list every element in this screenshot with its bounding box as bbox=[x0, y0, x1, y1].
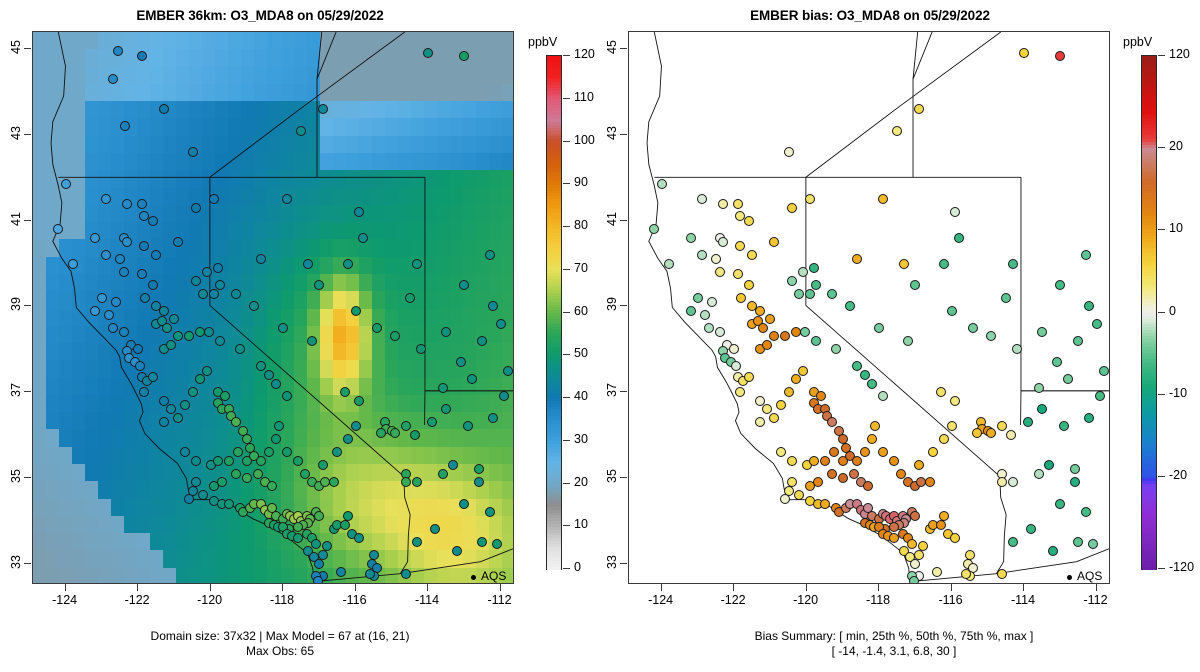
observation-point[interactable] bbox=[878, 194, 888, 204]
observation-point[interactable] bbox=[101, 194, 111, 204]
observation-point[interactable] bbox=[878, 447, 888, 457]
y-tick bbox=[24, 220, 31, 221]
x-tick bbox=[355, 584, 356, 591]
observation-point[interactable] bbox=[947, 421, 957, 431]
observation-point[interactable] bbox=[1099, 366, 1109, 376]
y-tick-label: 45 bbox=[605, 30, 619, 64]
observation-point[interactable] bbox=[947, 306, 957, 316]
colorbar-tick bbox=[563, 312, 570, 313]
observation-point[interactable] bbox=[204, 327, 214, 337]
observation-point[interactable] bbox=[271, 379, 281, 389]
observation-point[interactable] bbox=[90, 306, 100, 316]
colorbar-tick-label: 20 bbox=[1169, 139, 1183, 153]
x-tick bbox=[1096, 584, 1097, 591]
observation-point[interactable] bbox=[809, 263, 819, 273]
observation-point[interactable] bbox=[233, 447, 243, 457]
colorbar-tick bbox=[1158, 147, 1165, 148]
observation-point[interactable] bbox=[159, 417, 169, 427]
observation-point[interactable] bbox=[139, 241, 149, 251]
colorbar-tick bbox=[563, 98, 570, 99]
observation-point[interactable] bbox=[892, 126, 902, 136]
observation-point[interactable] bbox=[1012, 344, 1022, 354]
colorbar-tick bbox=[1158, 476, 1165, 477]
observation-point[interactable] bbox=[202, 366, 212, 376]
observation-point[interactable] bbox=[108, 323, 118, 333]
x-tick bbox=[661, 584, 662, 591]
observation-point[interactable] bbox=[148, 216, 158, 226]
observation-point[interactable] bbox=[1055, 499, 1065, 509]
aqs-legend-label-bias: AQS bbox=[1077, 569, 1102, 583]
y-tick-label: 35 bbox=[9, 459, 23, 493]
observation-point[interactable] bbox=[278, 323, 288, 333]
observation-point[interactable] bbox=[162, 323, 172, 333]
observation-point[interactable] bbox=[188, 147, 198, 157]
y-tick bbox=[620, 563, 627, 564]
observation-point[interactable] bbox=[733, 269, 743, 279]
observation-point[interactable] bbox=[758, 323, 768, 333]
colorbar-tick-label: 10 bbox=[574, 517, 588, 531]
observation-point[interactable] bbox=[787, 203, 797, 213]
panel-title-model: EMBER 36km: O3_MDA8 on 05/29/2022 bbox=[0, 8, 520, 23]
y-tick-label: 33 bbox=[9, 545, 23, 579]
observation-point[interactable] bbox=[427, 417, 437, 427]
observation-point[interactable] bbox=[282, 194, 292, 204]
observation-point[interactable] bbox=[148, 372, 158, 382]
observation-point[interactable] bbox=[209, 289, 219, 299]
observation-point[interactable] bbox=[829, 447, 839, 457]
observation-point[interactable] bbox=[264, 370, 274, 380]
observation-point[interactable] bbox=[235, 344, 245, 354]
observation-point[interactable] bbox=[811, 280, 821, 290]
observation-point[interactable] bbox=[744, 372, 754, 382]
colorbar-tick-label: 40 bbox=[574, 389, 588, 403]
observation-point[interactable] bbox=[340, 520, 350, 530]
x-tick bbox=[806, 584, 807, 591]
colorbar-tick bbox=[1158, 55, 1165, 56]
y-tick bbox=[24, 391, 31, 392]
x-tick-label: -112 bbox=[477, 593, 523, 607]
observation-point[interactable] bbox=[459, 51, 469, 61]
observation-point[interactable] bbox=[867, 434, 877, 444]
caption-bias-line1: Bias Summary: [ min, 25th %, 50th %, 75t… bbox=[614, 629, 1174, 644]
y-tick-label: 41 bbox=[9, 202, 23, 236]
colorbar-tick bbox=[563, 269, 570, 270]
x-tick bbox=[951, 584, 952, 591]
observation-point[interactable] bbox=[97, 293, 107, 303]
observation-point[interactable] bbox=[755, 417, 765, 427]
boundary-line bbox=[913, 32, 932, 79]
observation-point[interactable] bbox=[762, 340, 772, 350]
observation-point[interactable] bbox=[950, 396, 960, 406]
map-bias[interactable] bbox=[628, 31, 1110, 584]
x-tick bbox=[65, 584, 66, 591]
observation-point[interactable] bbox=[343, 259, 353, 269]
y-tick-label: 37 bbox=[605, 373, 619, 407]
observation-point[interactable] bbox=[139, 211, 149, 221]
map-model[interactable] bbox=[32, 31, 514, 584]
observation-point[interactable] bbox=[827, 417, 837, 427]
observation-point[interactable] bbox=[735, 387, 745, 397]
colorbar-tick bbox=[1158, 229, 1165, 230]
observation-point[interactable] bbox=[838, 473, 848, 483]
observation-point[interactable] bbox=[271, 434, 281, 444]
y-tick-label: 39 bbox=[605, 287, 619, 321]
observation-point[interactable] bbox=[459, 499, 469, 509]
colorbar-tick bbox=[1158, 394, 1165, 395]
observation-point[interactable] bbox=[485, 250, 495, 260]
aqs-legend-dot-model bbox=[471, 575, 476, 580]
observation-point[interactable] bbox=[405, 293, 415, 303]
observation-point[interactable] bbox=[318, 550, 328, 560]
observation-point[interactable] bbox=[307, 336, 317, 346]
colorbar-tick bbox=[563, 483, 570, 484]
observation-point[interactable] bbox=[166, 340, 176, 350]
observation-point[interactable] bbox=[718, 199, 728, 209]
observation-point[interactable] bbox=[438, 469, 448, 479]
observation-point[interactable] bbox=[784, 147, 794, 157]
colorbar-tick-label: 90 bbox=[574, 175, 588, 189]
observation-point[interactable] bbox=[1055, 51, 1065, 61]
x-tick-label: -118 bbox=[259, 593, 305, 607]
observation-point[interactable] bbox=[61, 179, 71, 189]
observation-point[interactable] bbox=[416, 344, 426, 354]
observation-point[interactable] bbox=[1048, 546, 1058, 556]
observation-point[interactable] bbox=[784, 387, 794, 397]
observation-point[interactable] bbox=[139, 387, 149, 397]
x-tick-label: -112 bbox=[1073, 593, 1119, 607]
aqs-legend-dot-bias bbox=[1067, 575, 1072, 580]
observation-point[interactable] bbox=[909, 576, 919, 584]
observation-point[interactable] bbox=[791, 374, 801, 384]
x-tick-label: -122 bbox=[710, 593, 756, 607]
y-tick-label: 43 bbox=[605, 116, 619, 150]
x-tick bbox=[137, 584, 138, 591]
observation-point[interactable] bbox=[242, 473, 252, 483]
observation-point[interactable] bbox=[68, 259, 78, 269]
observation-point[interactable] bbox=[137, 269, 147, 279]
observation-point[interactable] bbox=[657, 179, 667, 189]
colorbar-gradient-model bbox=[546, 55, 562, 570]
colorbar-tick bbox=[563, 525, 570, 526]
observation-point[interactable] bbox=[231, 289, 241, 299]
observation-point[interactable] bbox=[159, 104, 169, 114]
x-tick-label: -124 bbox=[42, 593, 88, 607]
y-tick bbox=[24, 477, 31, 478]
observation-point[interactable] bbox=[874, 323, 884, 333]
observation-point[interactable] bbox=[137, 199, 147, 209]
x-tick-label: -120 bbox=[783, 593, 829, 607]
boundary-line bbox=[317, 32, 336, 79]
observation-point[interactable] bbox=[733, 199, 743, 209]
colorbar-tick bbox=[563, 226, 570, 227]
colorbar-gradient-bias bbox=[1141, 55, 1157, 570]
observation-point[interactable] bbox=[700, 310, 710, 320]
colorbar-tick bbox=[1158, 312, 1165, 313]
colorbar-tick-label: 120 bbox=[574, 47, 595, 61]
map-boundaries-bias bbox=[629, 32, 1109, 583]
observation-point[interactable] bbox=[224, 499, 234, 509]
x-tick bbox=[500, 584, 501, 591]
colorbar-tick bbox=[563, 55, 570, 56]
observation-point[interactable] bbox=[798, 366, 808, 376]
x-tick bbox=[210, 584, 211, 591]
colorbar-tick-label: -120 bbox=[1169, 560, 1194, 574]
y-tick bbox=[620, 220, 627, 221]
caption-model: Domain size: 37x32 | Max Model = 67 at (… bbox=[0, 629, 560, 659]
observation-point[interactable] bbox=[1052, 357, 1062, 367]
observation-point[interactable] bbox=[1063, 374, 1073, 384]
observation-point[interactable] bbox=[735, 211, 745, 221]
observation-point[interactable] bbox=[231, 417, 241, 427]
observation-point[interactable] bbox=[104, 310, 114, 320]
observation-point[interactable] bbox=[755, 306, 765, 316]
observation-point[interactable] bbox=[474, 477, 484, 487]
caption-model-line2: Max Obs: 65 bbox=[0, 644, 560, 659]
observation-point[interactable] bbox=[744, 280, 754, 290]
y-tick bbox=[24, 305, 31, 306]
observation-point[interactable] bbox=[686, 233, 696, 243]
observation-point[interactable] bbox=[213, 263, 223, 273]
y-tick bbox=[620, 391, 627, 392]
observation-point[interactable] bbox=[412, 259, 422, 269]
colorbar-tick bbox=[563, 141, 570, 142]
observation-point[interactable] bbox=[296, 126, 306, 136]
observation-point[interactable] bbox=[198, 289, 208, 299]
observation-point[interactable] bbox=[303, 259, 313, 269]
colorbar-tick bbox=[1158, 568, 1165, 569]
x-tick-label: -122 bbox=[114, 593, 160, 607]
map-boundaries-model bbox=[33, 32, 513, 583]
observation-point[interactable] bbox=[195, 374, 205, 384]
x-tick-label: -124 bbox=[638, 593, 684, 607]
colorbar-tick-label: 110 bbox=[574, 90, 594, 104]
observation-point[interactable] bbox=[899, 259, 909, 269]
observation-point[interactable] bbox=[213, 456, 223, 466]
y-tick-label: 35 bbox=[605, 459, 619, 493]
observation-point[interactable] bbox=[122, 199, 132, 209]
observation-point[interactable] bbox=[224, 456, 234, 466]
observation-point[interactable] bbox=[322, 541, 332, 551]
observation-point[interactable] bbox=[318, 460, 328, 470]
x-tick-label: -114 bbox=[1000, 593, 1046, 607]
observation-point[interactable] bbox=[787, 456, 797, 466]
observation-point[interactable] bbox=[805, 289, 815, 299]
observation-point[interactable] bbox=[503, 366, 513, 376]
caption-bias: Bias Summary: [ min, 25th %, 50th %, 75t… bbox=[614, 629, 1174, 659]
observation-point[interactable] bbox=[704, 323, 714, 333]
observation-point[interactable] bbox=[697, 250, 707, 260]
colorbar-tick-label: 10 bbox=[1169, 221, 1183, 235]
y-tick bbox=[24, 48, 31, 49]
observation-point[interactable] bbox=[173, 413, 183, 423]
observation-point[interactable] bbox=[936, 520, 946, 530]
observation-point[interactable] bbox=[903, 336, 913, 346]
observation-point[interactable] bbox=[914, 460, 924, 470]
observation-point[interactable] bbox=[860, 447, 870, 457]
observation-point[interactable] bbox=[762, 404, 772, 414]
observation-point[interactable] bbox=[191, 276, 201, 286]
observation-point[interactable] bbox=[329, 477, 339, 487]
colorbar-segment bbox=[1142, 56, 1156, 59]
observation-point[interactable] bbox=[119, 327, 129, 337]
observation-point[interactable] bbox=[293, 456, 303, 466]
y-tick bbox=[620, 305, 627, 306]
x-tick bbox=[282, 584, 283, 591]
observation-point[interactable] bbox=[467, 374, 477, 384]
observation-point[interactable] bbox=[313, 576, 323, 584]
colorbar-tick-label: -10 bbox=[1169, 386, 1187, 400]
observation-point[interactable] bbox=[340, 387, 350, 397]
caption-bias-line2: [ -14, -1.4, 3.1, 6.8, 30 ] bbox=[614, 644, 1174, 659]
colorbar-tick-label: 120 bbox=[1169, 47, 1190, 61]
x-tick-label: -118 bbox=[855, 593, 901, 607]
observation-point[interactable] bbox=[1081, 250, 1091, 260]
observation-point[interactable] bbox=[744, 216, 754, 226]
y-tick-label: 33 bbox=[605, 545, 619, 579]
observation-point[interactable] bbox=[972, 428, 982, 438]
y-tick bbox=[24, 134, 31, 135]
colorbar-tick-label: 70 bbox=[574, 261, 588, 275]
observation-point[interactable] bbox=[496, 319, 506, 329]
boundary-line bbox=[996, 476, 1006, 573]
observation-point[interactable] bbox=[159, 306, 169, 316]
colorbar-unit-model: ppbV bbox=[528, 35, 557, 49]
observation-point[interactable] bbox=[939, 259, 949, 269]
y-tick-label: 39 bbox=[9, 287, 23, 321]
aqs-legend-label-model: AQS bbox=[481, 569, 506, 583]
colorbar-tick-label: 50 bbox=[574, 346, 588, 360]
observation-point[interactable] bbox=[800, 327, 810, 337]
panel-bias: EMBER bias: O3_MDA8 on 05/29/2022 -124-1… bbox=[600, 0, 1200, 672]
boundary-line bbox=[400, 476, 410, 573]
observation-point[interactable] bbox=[188, 387, 198, 397]
x-tick bbox=[733, 584, 734, 591]
observation-point[interactable] bbox=[820, 456, 830, 466]
colorbar-tick-label: 0 bbox=[1169, 304, 1176, 318]
observation-point[interactable] bbox=[354, 533, 364, 543]
colorbar-tick bbox=[563, 568, 570, 569]
observation-point[interactable] bbox=[90, 233, 100, 243]
observation-point[interactable] bbox=[693, 293, 703, 303]
y-tick bbox=[620, 477, 627, 478]
x-tick bbox=[427, 584, 428, 591]
observation-point[interactable] bbox=[809, 456, 819, 466]
colorbar-tick-label: 20 bbox=[574, 475, 588, 489]
observation-point[interactable] bbox=[794, 289, 804, 299]
observation-point[interactable] bbox=[664, 259, 674, 269]
observation-point[interactable] bbox=[137, 51, 147, 61]
observation-point[interactable] bbox=[1023, 417, 1033, 427]
observation-point[interactable] bbox=[936, 387, 946, 397]
observation-point[interactable] bbox=[354, 396, 364, 406]
observation-point[interactable] bbox=[108, 74, 118, 84]
observation-point[interactable] bbox=[889, 456, 899, 466]
observation-point[interactable] bbox=[148, 280, 158, 290]
x-tick bbox=[878, 584, 879, 591]
observation-point[interactable] bbox=[918, 541, 928, 551]
colorbar-tick-label: 30 bbox=[574, 432, 588, 446]
observation-point[interactable] bbox=[215, 280, 225, 290]
observation-point[interactable] bbox=[715, 327, 725, 337]
observation-point[interactable] bbox=[867, 379, 877, 389]
observation-point[interactable] bbox=[1070, 477, 1080, 487]
observation-point[interactable] bbox=[485, 507, 495, 517]
panel-model: EMBER 36km: O3_MDA8 on 05/29/2022 -124-1… bbox=[0, 0, 600, 672]
observation-point[interactable] bbox=[264, 447, 274, 457]
observation-point[interactable] bbox=[827, 289, 837, 299]
x-tick-label: -120 bbox=[187, 593, 233, 607]
y-tick-label: 45 bbox=[9, 30, 23, 64]
observation-point[interactable] bbox=[787, 276, 797, 286]
colorbar-tick bbox=[563, 354, 570, 355]
colorbar-tick-label: -20 bbox=[1169, 468, 1187, 482]
observation-point[interactable] bbox=[1034, 469, 1044, 479]
observation-point[interactable] bbox=[282, 447, 292, 457]
observation-point[interactable] bbox=[1092, 319, 1102, 329]
observation-point[interactable] bbox=[831, 344, 841, 354]
observation-point[interactable] bbox=[820, 499, 830, 509]
observation-point[interactable] bbox=[351, 306, 361, 316]
observation-point[interactable] bbox=[735, 241, 745, 251]
observation-point[interactable] bbox=[811, 336, 821, 346]
observation-point[interactable] bbox=[351, 421, 361, 431]
observation-point[interactable] bbox=[166, 404, 176, 414]
observation-point[interactable] bbox=[376, 428, 386, 438]
colorbar-tick-label: 80 bbox=[574, 218, 588, 232]
observation-point[interactable] bbox=[191, 456, 201, 466]
boundary-line bbox=[806, 32, 1001, 177]
y-tick-label: 43 bbox=[9, 116, 23, 150]
observation-point[interactable] bbox=[910, 559, 920, 569]
observation-point[interactable] bbox=[358, 233, 368, 243]
observation-point[interactable] bbox=[686, 306, 696, 316]
observation-point[interactable] bbox=[860, 370, 870, 380]
observation-point[interactable] bbox=[950, 533, 960, 543]
caption-model-line1: Domain size: 37x32 | Max Model = 67 at (… bbox=[0, 629, 560, 644]
observation-point[interactable] bbox=[191, 203, 201, 213]
observation-point[interactable] bbox=[827, 469, 837, 479]
colorbar-segment bbox=[547, 56, 561, 59]
y-tick bbox=[24, 563, 31, 564]
observation-point[interactable] bbox=[1008, 259, 1018, 269]
observation-point[interactable] bbox=[769, 413, 779, 423]
observation-point[interactable] bbox=[256, 456, 266, 466]
observation-point[interactable] bbox=[215, 336, 225, 346]
x-tick-label: -114 bbox=[404, 593, 450, 607]
observation-point[interactable] bbox=[438, 383, 448, 393]
x-tick-label: -116 bbox=[332, 593, 378, 607]
observation-point[interactable] bbox=[314, 559, 324, 569]
colorbar-tick bbox=[563, 440, 570, 441]
y-tick-label: 41 bbox=[605, 202, 619, 236]
observation-point[interactable] bbox=[1001, 293, 1011, 303]
observation-point[interactable] bbox=[452, 546, 462, 556]
x-tick bbox=[1023, 584, 1024, 591]
observation-point[interactable] bbox=[715, 267, 725, 277]
observation-point[interactable] bbox=[697, 194, 707, 204]
observation-point[interactable] bbox=[925, 477, 935, 487]
boundary-line bbox=[210, 32, 405, 177]
observation-point[interactable] bbox=[852, 456, 862, 466]
observation-point[interactable] bbox=[1034, 383, 1044, 393]
observation-point[interactable] bbox=[101, 250, 111, 260]
observation-point[interactable] bbox=[1081, 507, 1091, 517]
observation-point[interactable] bbox=[119, 267, 129, 277]
observation-point[interactable] bbox=[456, 357, 466, 367]
observation-point[interactable] bbox=[914, 550, 924, 560]
observation-point[interactable] bbox=[954, 233, 964, 243]
observation-point[interactable] bbox=[231, 469, 241, 479]
